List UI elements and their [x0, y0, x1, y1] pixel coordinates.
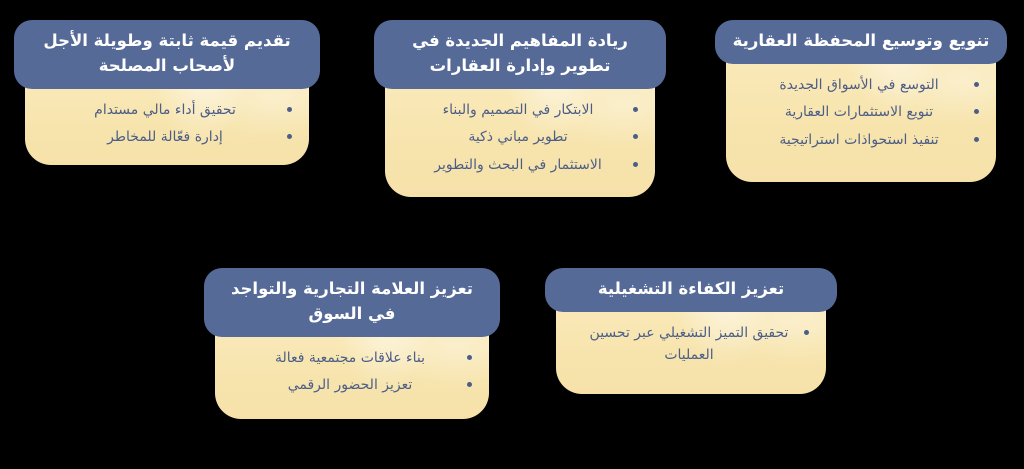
objective-card-title: تنويع وتوسيع المحفظة العقارية	[715, 20, 1007, 64]
bullet-text: تحقيق أداء مالي مستدام	[94, 102, 236, 118]
objective-card-body: تحقيق التميز التشغيلي عبر تحسين العمليات	[556, 302, 826, 394]
objective-card-portfolio-diversification[interactable]: تنويع وتوسيع المحفظة العقارية التوسع في …	[715, 20, 1007, 182]
list-item: تنويع الاستثمارات العقارية	[742, 101, 980, 124]
bullet-dot-icon	[633, 162, 638, 167]
bullet-dot-icon	[974, 109, 979, 114]
bullet-text: تحقيق التميز التشغيلي عبر تحسين العمليات	[590, 325, 789, 364]
objective-card-title: تعزيز العلامة التجارية والتواجد في السوق	[204, 268, 500, 337]
list-item: تطوير مباني ذكية	[401, 126, 639, 149]
list-item: بناء علاقات مجتمعية فعالة	[231, 347, 473, 370]
bullet-dot-icon	[804, 330, 809, 335]
bullet-text: التوسع في الأسواق الجديدة	[779, 77, 938, 93]
list-item: تحقيق التميز التشغيلي عبر تحسين العمليات	[572, 322, 810, 367]
bullet-dot-icon	[974, 82, 979, 87]
bullet-dot-icon	[287, 134, 292, 139]
list-item: التوسع في الأسواق الجديدة	[742, 74, 980, 97]
list-item: تعزيز الحضور الرقمي	[231, 374, 473, 397]
list-item: إدارة فعّالة للمخاطر	[41, 126, 293, 149]
objective-bullet-list: تحقيق أداء مالي مستدام إدارة فعّالة للمخ…	[41, 99, 293, 149]
objective-card-value-creation[interactable]: تقديم قيمة ثابتة وطويلة الأجل لأصحاب الم…	[14, 20, 320, 165]
objective-card-innovation-leadership[interactable]: ريادة المفاهيم الجديدة في تطوير وإدارة ا…	[374, 20, 666, 197]
list-item: الابتكار في التصميم والبناء	[401, 99, 639, 122]
objectives-board: تقديم قيمة ثابتة وطويلة الأجل لأصحاب الم…	[0, 0, 1024, 469]
list-item: تنفيذ استحواذات استراتيجية	[742, 129, 980, 152]
bullet-dot-icon	[467, 355, 472, 360]
bullet-text: بناء علاقات مجتمعية فعالة	[275, 350, 425, 366]
objective-card-body: التوسع في الأسواق الجديدة تنويع الاستثما…	[726, 54, 996, 182]
objective-card-title: تعزيز الكفاءة التشغيلية	[545, 268, 837, 312]
list-item: الاستثمار في البحث والتطوير	[401, 154, 639, 177]
objective-bullet-list: التوسع في الأسواق الجديدة تنويع الاستثما…	[742, 74, 980, 152]
bullet-dot-icon	[467, 382, 472, 387]
bullet-text: تعزيز الحضور الرقمي	[288, 377, 413, 393]
bullet-text: تنفيذ استحواذات استراتيجية	[779, 132, 938, 148]
bullet-dot-icon	[633, 134, 638, 139]
bullet-text: الابتكار في التصميم والبناء	[443, 102, 594, 118]
objective-card-body: بناء علاقات مجتمعية فعالة تعزيز الحضور ا…	[215, 327, 489, 419]
objective-card-title: تقديم قيمة ثابتة وطويلة الأجل لأصحاب الم…	[14, 20, 320, 89]
objective-card-title: ريادة المفاهيم الجديدة في تطوير وإدارة ا…	[374, 20, 666, 89]
bullet-dot-icon	[287, 107, 292, 112]
objective-bullet-list: الابتكار في التصميم والبناء تطوير مباني …	[401, 99, 639, 177]
bullet-text: تنويع الاستثمارات العقارية	[785, 104, 933, 120]
objective-card-body: تحقيق أداء مالي مستدام إدارة فعّالة للمخ…	[25, 79, 309, 165]
bullet-text: تطوير مباني ذكية	[468, 129, 567, 145]
bullet-dot-icon	[974, 137, 979, 142]
objective-card-body: الابتكار في التصميم والبناء تطوير مباني …	[385, 79, 655, 197]
bullet-text: إدارة فعّالة للمخاطر	[107, 129, 223, 145]
objective-bullet-list: تحقيق التميز التشغيلي عبر تحسين العمليات	[572, 322, 810, 367]
objective-card-brand-market-presence[interactable]: تعزيز العلامة التجارية والتواجد في السوق…	[204, 268, 500, 419]
bullet-text: الاستثمار في البحث والتطوير	[434, 157, 602, 173]
objective-card-operational-efficiency[interactable]: تعزيز الكفاءة التشغيلية تحقيق التميز الت…	[545, 268, 837, 394]
bullet-dot-icon	[633, 107, 638, 112]
objective-bullet-list: بناء علاقات مجتمعية فعالة تعزيز الحضور ا…	[231, 347, 473, 397]
list-item: تحقيق أداء مالي مستدام	[41, 99, 293, 122]
